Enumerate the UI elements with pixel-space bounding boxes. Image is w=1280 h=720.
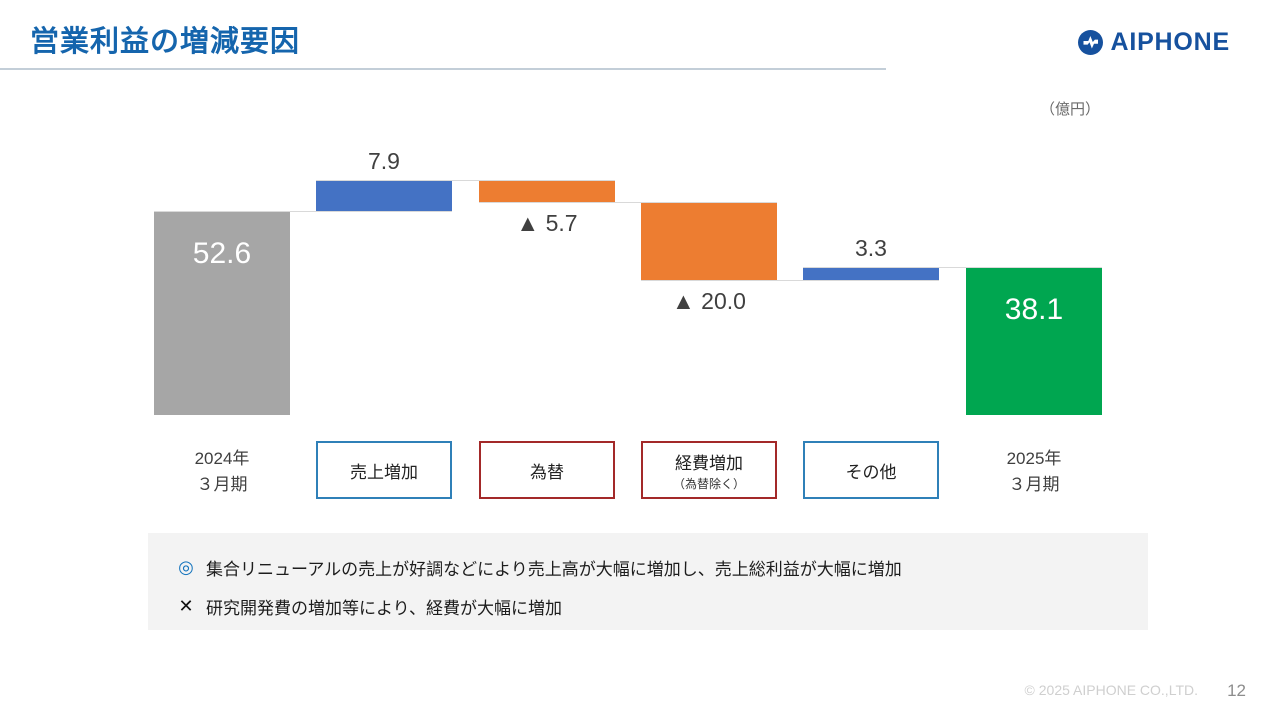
bar-為替 — [479, 180, 615, 202]
category-box-sublabel: （為替除く） — [673, 475, 745, 492]
bar-value-label: ▲ 5.7 — [479, 210, 615, 237]
bar-value-label: 52.6 — [154, 237, 290, 271]
category-box: 為替 — [479, 441, 615, 499]
bar-経費増加（為替除く） — [641, 202, 777, 280]
bar-売上増加 — [316, 180, 452, 211]
page-number: 12 — [1227, 681, 1246, 701]
note-item: ✕ 研究開発費の増加等により、経費が大幅に増加 — [148, 580, 1148, 619]
copyright-text: © 2025 AIPHONE CO.,LTD. — [1025, 682, 1198, 698]
category-box-label: 売上増加 — [350, 458, 418, 483]
category-box: 売上増加 — [316, 441, 452, 499]
bar-value-label: 38.1 — [966, 293, 1102, 327]
connector-line — [316, 180, 615, 181]
category-label-line1: 2025年 — [966, 446, 1102, 472]
category-box-label: 経費増加 — [675, 449, 743, 474]
category-label-2024年: 2024年３月期 — [154, 446, 290, 498]
bar-その他 — [803, 267, 939, 280]
category-box: その他 — [803, 441, 939, 499]
category-box-為替: 為替 — [479, 441, 615, 499]
bar-2024年３月期: 52.6 — [154, 211, 290, 415]
category-label-line2: ３月期 — [154, 472, 290, 498]
cross-icon: ✕ — [176, 596, 196, 617]
category-box-経費増加: 経費増加（為替除く） — [641, 441, 777, 499]
bar-2025年３月期: 38.1 — [966, 267, 1102, 415]
waterfall-chart: 52.67.9▲ 5.7▲ 20.03.338.12024年３月期売上増加為替経… — [0, 0, 1280, 520]
category-box-label: その他 — [846, 458, 897, 483]
bar-value-label: 3.3 — [803, 235, 939, 262]
bar-value-label: 7.9 — [316, 148, 452, 175]
connector-line — [479, 202, 777, 203]
notes-panel: ◎ 集合リニューアルの売上が好調などにより売上高が大幅に増加し、売上総利益が大幅… — [148, 533, 1148, 630]
note-item: ◎ 集合リニューアルの売上が好調などにより売上高が大幅に増加し、売上総利益が大幅… — [148, 533, 1148, 580]
connector-line — [641, 280, 939, 281]
category-label-line1: 2024年 — [154, 446, 290, 472]
category-label-line2: ３月期 — [966, 472, 1102, 498]
note-text: 集合リニューアルの売上が好調などにより売上高が大幅に増加し、売上総利益が大幅に増… — [206, 555, 902, 580]
category-box: 経費増加（為替除く） — [641, 441, 777, 499]
category-box-その他: その他 — [803, 441, 939, 499]
category-box-売上増加: 売上増加 — [316, 441, 452, 499]
category-box-label: 為替 — [530, 458, 564, 483]
connector-line — [154, 211, 452, 212]
category-label-2025年: 2025年３月期 — [966, 446, 1102, 498]
double-circle-icon: ◎ — [176, 557, 196, 578]
connector-line — [803, 267, 1102, 268]
bar-value-label: ▲ 20.0 — [641, 288, 777, 315]
note-text: 研究開発費の増加等により、経費が大幅に増加 — [206, 594, 562, 619]
